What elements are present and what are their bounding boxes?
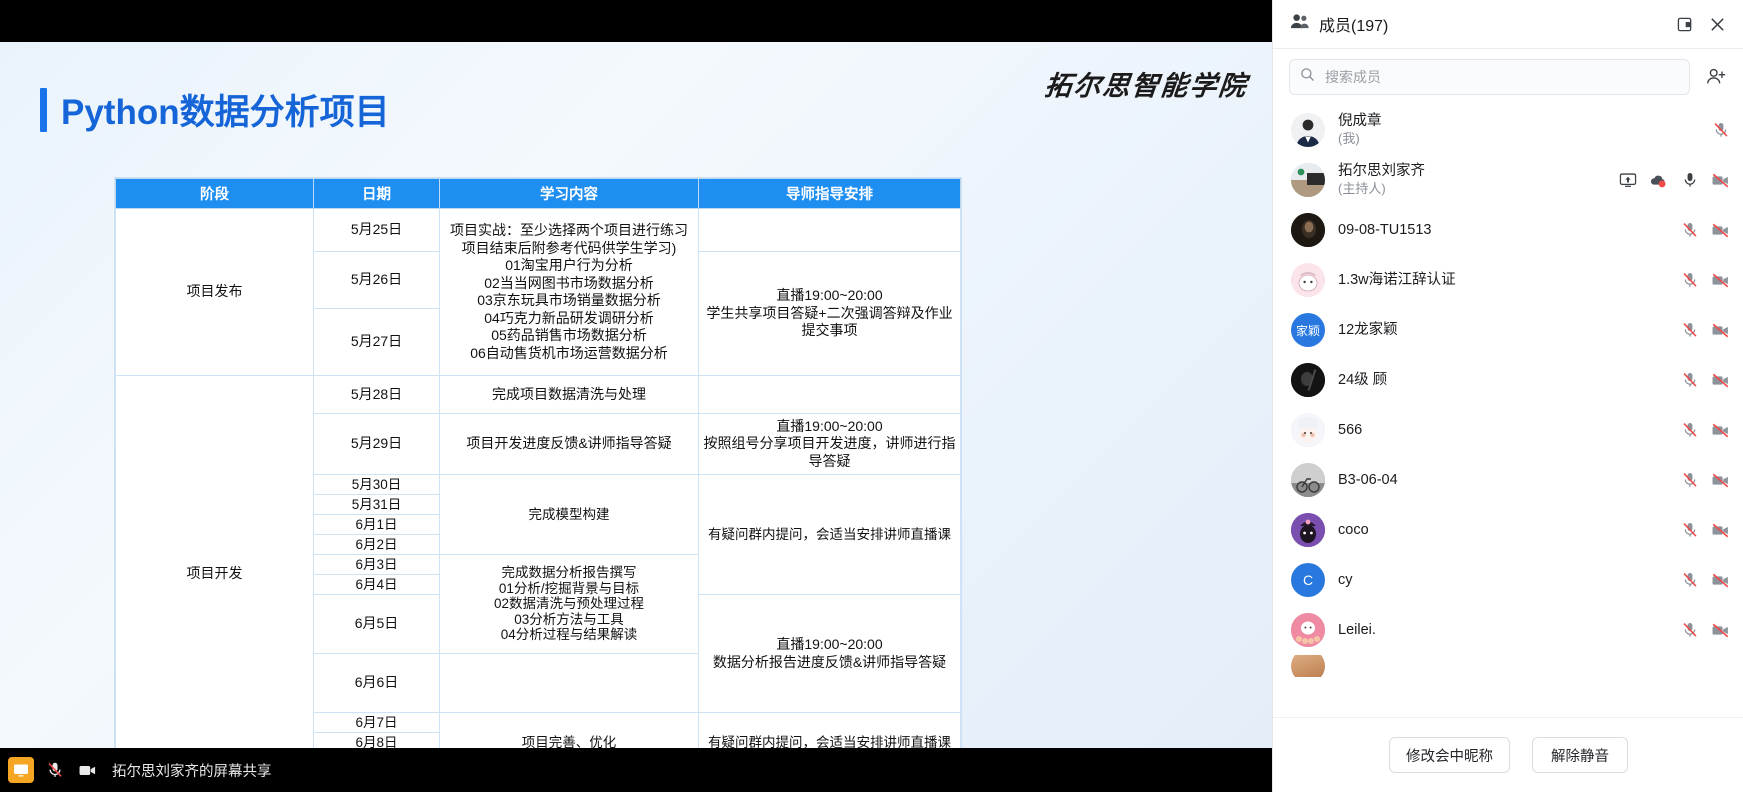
participant-row[interactable]: 24级 顾 xyxy=(1273,355,1743,405)
participant-actions xyxy=(1680,571,1730,590)
cell-mentor-empty xyxy=(699,376,961,414)
participant-name: cy xyxy=(1338,571,1667,589)
avatar: C xyxy=(1291,563,1325,597)
share-status-bar: 拓尔思刘家齐的屏幕共享 xyxy=(0,748,1272,792)
avatar xyxy=(1291,513,1325,547)
avatar xyxy=(1291,163,1325,197)
participant-name: 566 xyxy=(1338,421,1667,439)
mic-muted-icon[interactable] xyxy=(1680,521,1699,540)
title-accent-bar xyxy=(40,88,47,132)
academy-logo-watermark: 拓尔思智能学院 xyxy=(1043,64,1250,103)
cell-content: 项目完善、优化 xyxy=(440,713,699,749)
participant-name-block: 24级 顾 xyxy=(1338,371,1667,389)
cell-date: 5月31日 xyxy=(314,495,440,515)
close-icon[interactable] xyxy=(1704,11,1730,37)
slide-title: Python数据分析项目 xyxy=(61,84,390,135)
mic-muted-icon[interactable] xyxy=(1680,271,1699,290)
avatar xyxy=(1291,263,1325,297)
participant-name-block: cy xyxy=(1338,571,1667,589)
cell-date: 6月4日 xyxy=(314,575,440,595)
participants-list[interactable]: 倪成章(我) 拓尔思刘家齐(主持人) 09-08-TU1513 xyxy=(1273,105,1743,717)
mic-muted-icon[interactable] xyxy=(1680,621,1699,640)
cell-content: 项目开发进度反馈&讲师指导答疑 xyxy=(440,414,699,475)
camera-off-icon[interactable] xyxy=(1711,521,1730,540)
participant-name: Leilei. xyxy=(1338,621,1667,639)
meeting-window: 拓尔思智能学院 Python数据分析项目 阶段 日期 学习内容 导师指导安排 xyxy=(0,0,1743,792)
cell-date: 5月27日 xyxy=(314,309,440,376)
mic-muted-icon[interactable] xyxy=(1680,371,1699,390)
panel-footer: 修改会中昵称 解除静音 xyxy=(1273,717,1743,792)
camera-off-icon[interactable] xyxy=(1711,321,1730,340)
search-input[interactable] xyxy=(1323,68,1679,86)
mic-muted-icon[interactable] xyxy=(1680,571,1699,590)
camera-off-icon[interactable] xyxy=(1711,171,1730,190)
search-box[interactable] xyxy=(1289,59,1690,95)
cell-mentor: 直播19:00~20:00 按照组号分享项目开发进度，讲师进行指导答疑 xyxy=(699,414,961,475)
cell-content: 完成数据分析报告撰写 01分析/挖掘背景与目标 02数据清洗与预处理过程 03分… xyxy=(440,555,699,654)
avatar xyxy=(1291,363,1325,397)
popout-icon[interactable] xyxy=(1672,11,1698,37)
participant-name-block: 12龙家颖 xyxy=(1338,321,1667,339)
panel-header: 成员(197) xyxy=(1273,0,1743,49)
participant-name-block: 拓尔思刘家齐(主持人) xyxy=(1338,162,1605,197)
cell-date: 5月26日 xyxy=(314,252,440,309)
participant-row[interactable]: B3-06-04 xyxy=(1273,455,1743,505)
cell-content: 完成模型构建 xyxy=(440,475,699,555)
table-row: 项目发布 5月25日 项目实战：至少选择两个项目进行练习 项目结束后附参考代码供… xyxy=(116,209,961,252)
participant-actions xyxy=(1711,121,1730,140)
avatar: 家颖 xyxy=(1291,313,1325,347)
cell-date: 6月1日 xyxy=(314,515,440,535)
camera-off-icon[interactable] xyxy=(1711,471,1730,490)
participant-row[interactable]: 566 xyxy=(1273,405,1743,455)
search-row xyxy=(1273,49,1743,105)
participant-name: 拓尔思刘家齐 xyxy=(1338,162,1605,180)
participant-actions xyxy=(1680,621,1730,640)
participant-role: (主持人) xyxy=(1338,181,1605,198)
schedule-table: 阶段 日期 学习内容 导师指导安排 项目发布 5月25日 项目实战：至少选择两个… xyxy=(115,178,961,748)
search-icon xyxy=(1300,67,1315,87)
mic-muted-icon[interactable] xyxy=(1680,471,1699,490)
participant-name-block: 566 xyxy=(1338,421,1667,439)
participant-name: 1.3w海诺江辞认证 xyxy=(1338,271,1667,289)
participant-row[interactable]: 倪成章(我) xyxy=(1273,105,1743,155)
cell-date: 5月25日 xyxy=(314,209,440,252)
cell-content-publish: 项目实战：至少选择两个项目进行练习 项目结束后附参考代码供学生学习) 01淘宝用… xyxy=(440,209,699,376)
participant-row[interactable]: Ccy xyxy=(1273,555,1743,605)
avatar xyxy=(1291,655,1325,677)
col-header-mentor: 导师指导安排 xyxy=(699,179,961,209)
unmute-button[interactable]: 解除静音 xyxy=(1532,737,1628,773)
participant-actions xyxy=(1680,521,1730,540)
camera-off-icon[interactable] xyxy=(1711,221,1730,240)
cell-date: 5月30日 xyxy=(314,475,440,495)
mic-on-icon[interactable] xyxy=(1680,171,1699,190)
participants-panel: 成员(197) xyxy=(1272,0,1743,792)
participant-actions xyxy=(1680,421,1730,440)
cell-date: 6月8日 xyxy=(314,733,440,749)
participant-name-block: 1.3w海诺江辞认证 xyxy=(1338,271,1667,289)
participant-role: (我) xyxy=(1338,131,1698,148)
cell-date: 6月7日 xyxy=(314,713,440,733)
participant-name-block: coco xyxy=(1338,521,1667,539)
avatar xyxy=(1291,413,1325,447)
participant-name-block: 09-08-TU1513 xyxy=(1338,221,1667,239)
cell-date: 6月2日 xyxy=(314,535,440,555)
col-header-stage: 阶段 xyxy=(116,179,314,209)
participant-row[interactable]: 09-08-TU1513 xyxy=(1273,205,1743,255)
participant-row[interactable]: 1.3w海诺江辞认证 xyxy=(1273,255,1743,305)
share-status-text: 拓尔思刘家齐的屏幕共享 xyxy=(112,760,272,781)
camera-off-icon[interactable] xyxy=(1711,271,1730,290)
cell-date: 6月5日 xyxy=(314,595,440,654)
cell-mentor-empty xyxy=(699,209,961,252)
camera-off-icon[interactable] xyxy=(1711,421,1730,440)
table-header-row: 阶段 日期 学习内容 导师指导安排 xyxy=(116,179,961,209)
mic-muted-icon[interactable] xyxy=(1711,121,1730,140)
cloud-record-icon[interactable] xyxy=(1649,171,1668,190)
mic-muted-icon[interactable] xyxy=(1680,421,1699,440)
camera-off-icon[interactable] xyxy=(1711,371,1730,390)
avatar xyxy=(1291,213,1325,247)
stage-top-bar xyxy=(0,0,1272,42)
mic-muted-icon[interactable] xyxy=(1680,321,1699,340)
mic-muted-icon[interactable] xyxy=(44,759,66,781)
participant-name: B3-06-04 xyxy=(1338,471,1667,489)
cell-date: 5月29日 xyxy=(314,414,440,475)
shared-screen-stage: 拓尔思智能学院 Python数据分析项目 阶段 日期 学习内容 导师指导安排 xyxy=(0,0,1272,792)
cell-content: 完成项目数据清洗与处理 xyxy=(440,376,699,414)
shared-slide: 拓尔思智能学院 Python数据分析项目 阶段 日期 学习内容 导师指导安排 xyxy=(0,42,1272,748)
camera-off-icon[interactable] xyxy=(1711,621,1730,640)
participant-actions xyxy=(1680,321,1730,340)
avatar xyxy=(1291,463,1325,497)
screen-share-icon[interactable] xyxy=(1618,171,1637,190)
table-row: 项目开发 5月28日 完成项目数据清洗与处理 xyxy=(116,376,961,414)
participant-name: 倪成章 xyxy=(1338,112,1698,130)
participant-actions xyxy=(1680,371,1730,390)
screen-share-icon[interactable] xyxy=(8,757,34,783)
cell-mentor: 有疑问群内提问，会适当安排讲师直播课 xyxy=(699,475,961,595)
participant-actions xyxy=(1680,221,1730,240)
camera-icon[interactable] xyxy=(76,759,98,781)
avatar xyxy=(1291,613,1325,647)
rename-button[interactable]: 修改会中昵称 xyxy=(1389,737,1510,773)
camera-off-icon[interactable] xyxy=(1711,571,1730,590)
cell-mentor-publish: 直播19:00~20:00 学生共享项目答疑+二次强调答辩及作业 提交事项 xyxy=(699,252,961,376)
participant-name-block: Leilei. xyxy=(1338,621,1667,639)
participant-row[interactable]: Leilei. xyxy=(1273,605,1743,655)
cell-mentor: 直播19:00~20:00 数据分析报告进度反馈&讲师指导答疑 xyxy=(699,595,961,713)
participant-name-block: 倪成章(我) xyxy=(1338,112,1698,147)
participant-row[interactable]: 拓尔思刘家齐(主持人) xyxy=(1273,155,1743,205)
participant-name: 09-08-TU1513 xyxy=(1338,221,1667,239)
cell-stage-publish: 项目发布 xyxy=(116,209,314,376)
add-user-icon[interactable] xyxy=(1702,63,1730,91)
participant-actions xyxy=(1680,271,1730,290)
cell-stage-develop: 项目开发 xyxy=(116,376,314,749)
participant-name: 24级 顾 xyxy=(1338,371,1667,389)
participant-name: 12龙家颖 xyxy=(1338,321,1667,339)
participant-actions xyxy=(1680,471,1730,490)
panel-title: 成员(197) xyxy=(1319,12,1388,36)
participant-actions xyxy=(1618,171,1730,190)
slide-title-block: Python数据分析项目 xyxy=(40,84,390,135)
cell-mentor: 有疑问群内提问，会适当安排讲师直播课 xyxy=(699,713,961,749)
participant-row[interactable]: coco xyxy=(1273,505,1743,555)
cell-content-empty xyxy=(440,654,699,713)
col-header-content: 学习内容 xyxy=(440,179,699,209)
mic-muted-icon[interactable] xyxy=(1680,221,1699,240)
cell-date: 6月6日 xyxy=(314,654,440,713)
participant-name-block: B3-06-04 xyxy=(1338,471,1667,489)
col-header-date: 日期 xyxy=(314,179,440,209)
avatar xyxy=(1291,113,1325,147)
participant-name: coco xyxy=(1338,521,1667,539)
cell-date: 5月28日 xyxy=(314,376,440,414)
participant-row[interactable]: 家颖12龙家颖 xyxy=(1273,305,1743,355)
cell-date: 6月3日 xyxy=(314,555,440,575)
people-icon xyxy=(1289,11,1310,37)
participant-row-partial[interactable] xyxy=(1273,655,1743,677)
